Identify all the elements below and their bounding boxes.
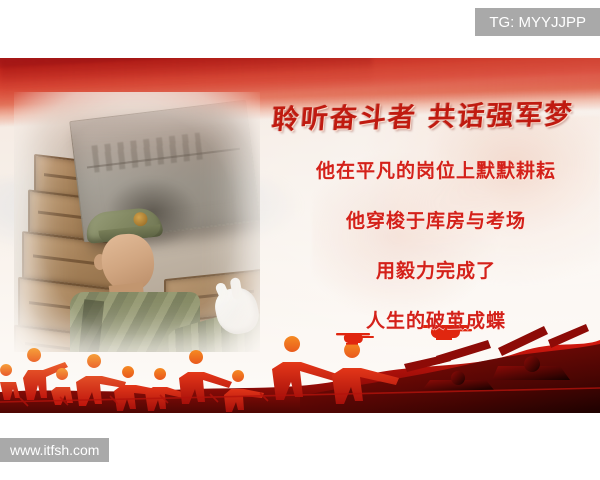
photo-feathered-vignette — [14, 92, 260, 352]
soldier-photo — [14, 92, 260, 352]
watermark-telegram: TG: MYYJJPP — [475, 8, 600, 36]
poster-body-text: 他在平凡的岗位上默默耕耘 他穿梭于库房与考场 用毅力完成了 人生的破茧成蝶 — [286, 156, 586, 333]
body-line: 他穿梭于库房与考场 — [286, 206, 586, 233]
watermark-website: www.itfsh.com — [0, 438, 109, 462]
body-line: 他在平凡的岗位上默默耕耘 — [286, 156, 586, 183]
poster-canvas: 聆听奋斗者 共话强军梦 他在平凡的岗位上默默耕耘 他穿梭于库房与考场 用毅力完成… — [0, 0, 600, 480]
body-line: 用毅力完成了 — [286, 256, 586, 283]
body-line: 人生的破茧成蝶 — [286, 306, 586, 333]
poster-title: 聆听奋斗者 共话强军梦 — [260, 89, 586, 139]
